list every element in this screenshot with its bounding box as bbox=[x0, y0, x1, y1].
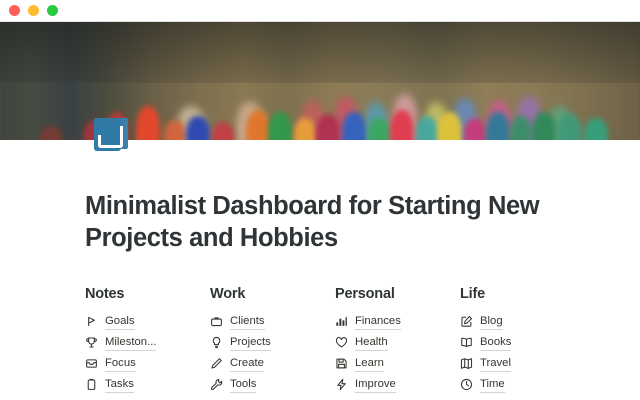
link-label: Health bbox=[355, 335, 388, 351]
inbox-icon bbox=[85, 357, 98, 370]
link-label: Clients bbox=[230, 314, 265, 330]
briefcase-icon bbox=[210, 315, 223, 328]
link-row-tools[interactable]: Tools bbox=[210, 374, 335, 395]
page-notebook-icon[interactable] bbox=[94, 118, 128, 155]
save-disk-icon bbox=[335, 357, 348, 370]
link-label: Tasks bbox=[105, 377, 134, 393]
column-heading: Work bbox=[210, 286, 335, 302]
maximize-button[interactable] bbox=[47, 5, 58, 16]
column-heading: Life bbox=[460, 286, 585, 302]
link-row-blog[interactable]: Blog bbox=[460, 311, 585, 332]
link-label: Learn bbox=[355, 356, 384, 372]
link-row-clients[interactable]: Clients bbox=[210, 311, 335, 332]
link-label: Time bbox=[480, 377, 505, 393]
window-titlebar bbox=[0, 0, 640, 22]
link-label: Finances bbox=[355, 314, 401, 330]
link-row-books[interactable]: Books bbox=[460, 332, 585, 353]
lightbulb-icon bbox=[210, 336, 223, 349]
link-row-time[interactable]: Time bbox=[460, 374, 585, 395]
minimize-button[interactable] bbox=[28, 5, 39, 16]
link-label: Focus bbox=[105, 356, 136, 372]
link-row-travel[interactable]: Travel bbox=[460, 353, 585, 374]
column-life: Life Blog Books Travel bbox=[460, 286, 585, 395]
column-work: Work Clients Projects Create bbox=[210, 286, 335, 395]
link-label: Books bbox=[480, 335, 511, 351]
link-row-learn[interactable]: Learn bbox=[335, 353, 460, 374]
column-personal: Personal Finances Health Learn bbox=[335, 286, 460, 395]
clipboard-icon bbox=[85, 378, 98, 391]
notebook-icon-fold bbox=[98, 135, 117, 148]
close-button[interactable] bbox=[9, 5, 20, 16]
traffic-light-group bbox=[9, 5, 58, 16]
link-row-tasks[interactable]: Tasks bbox=[85, 374, 210, 395]
link-label: Create bbox=[230, 356, 264, 372]
link-columns: Notes Goals Mileston... Focus bbox=[85, 286, 605, 395]
link-label: Goals bbox=[105, 314, 135, 330]
link-row-finances[interactable]: Finances bbox=[335, 311, 460, 332]
map-icon bbox=[460, 357, 473, 370]
pencil-icon bbox=[210, 357, 223, 370]
app-window: Minimalist Dashboard for Starting New Pr… bbox=[0, 0, 640, 400]
link-row-projects[interactable]: Projects bbox=[210, 332, 335, 353]
link-row-milestones[interactable]: Mileston... bbox=[85, 332, 210, 353]
link-label: Blog bbox=[480, 314, 503, 330]
link-label: Mileston... bbox=[105, 335, 156, 351]
link-label: Travel bbox=[480, 356, 511, 372]
link-label: Projects bbox=[230, 335, 271, 351]
edit-square-icon bbox=[460, 315, 473, 328]
notebook-icon-edge bbox=[117, 126, 123, 148]
link-row-health[interactable]: Health bbox=[335, 332, 460, 353]
link-row-goals[interactable]: Goals bbox=[85, 311, 210, 332]
open-book-icon bbox=[460, 336, 473, 349]
page-title: Minimalist Dashboard for Starting New Pr… bbox=[85, 190, 555, 254]
column-heading: Notes bbox=[85, 286, 210, 302]
wrench-icon bbox=[210, 378, 223, 391]
trophy-icon bbox=[85, 336, 98, 349]
column-notes: Notes Goals Mileston... Focus bbox=[85, 286, 210, 395]
flag-icon bbox=[85, 315, 98, 328]
link-label: Tools bbox=[230, 377, 256, 393]
column-heading: Personal bbox=[335, 286, 460, 302]
lightning-icon bbox=[335, 378, 348, 391]
link-row-create[interactable]: Create bbox=[210, 353, 335, 374]
link-row-improve[interactable]: Improve bbox=[335, 374, 460, 395]
clock-icon bbox=[460, 378, 473, 391]
link-label: Improve bbox=[355, 377, 396, 393]
link-row-focus[interactable]: Focus bbox=[85, 353, 210, 374]
heart-icon bbox=[335, 336, 348, 349]
bar-chart-icon bbox=[335, 315, 348, 328]
